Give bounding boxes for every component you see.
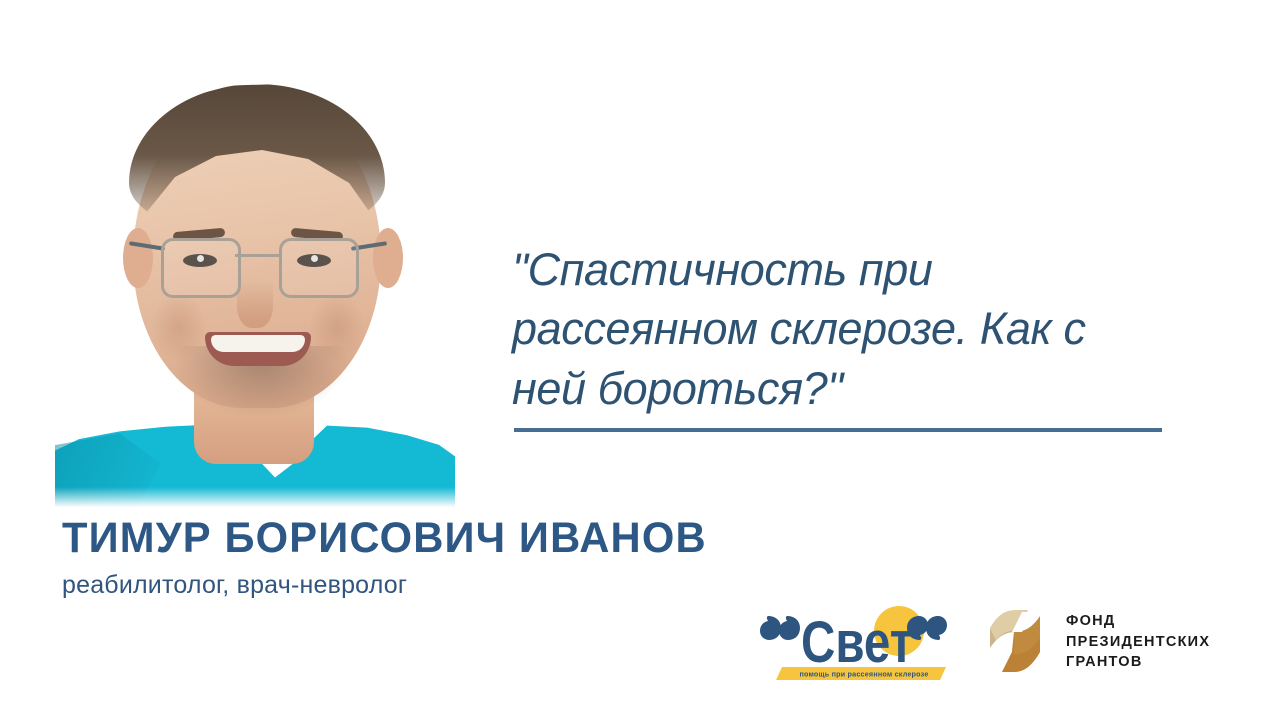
speaker-role: реабилитолог, врач-невролог: [62, 572, 882, 600]
svet-logo-svg: Свет помощь при рассеянном склерозе: [760, 600, 958, 686]
ear-left: [123, 228, 153, 288]
grants-mark-icon: [988, 606, 1052, 678]
speaker-name-block: ТИМУР БОРИСОВИЧ ИВАНОВ реабилитолог, вра…: [62, 516, 882, 600]
portrait-illustration: [55, 78, 455, 513]
presidential-grants-logo: ФОНД ПРЕЗИДЕНТСКИХ ГРАНТОВ: [988, 600, 1218, 684]
portrait-bottom-fade: [55, 487, 455, 513]
teeth: [211, 335, 305, 352]
svet-tagline: помощь при рассеянном склерозе: [799, 670, 928, 679]
svet-wordmark: Свет: [801, 610, 913, 675]
ear-right: [373, 228, 403, 288]
glasses-lens-right: [279, 238, 359, 298]
smiling-mouth: [205, 332, 311, 366]
glasses-lens-left: [161, 238, 241, 298]
svet-open-quote-icon: [760, 616, 800, 640]
nose: [237, 274, 273, 328]
svet-close-quote-icon: [907, 616, 947, 640]
quote-text: "Спастичность при рассеянном склерозе. К…: [512, 240, 1172, 418]
grants-line-2: ПРЕЗИДЕНТСКИХ: [1066, 632, 1210, 653]
quote-block: "Спастичность при рассеянном склерозе. К…: [512, 240, 1172, 418]
quote-divider-rule: [514, 428, 1162, 432]
grants-line-3: ГРАНТОВ: [1066, 652, 1210, 673]
speaker-name: ТИМУР БОРИСОВИЧ ИВАНОВ: [62, 516, 857, 561]
grants-wordmark: ФОНД ПРЕЗИДЕНТСКИХ ГРАНТОВ: [1066, 611, 1210, 673]
svet-logo: Свет помощь при рассеянном склерозе: [760, 600, 958, 686]
glasses-bridge: [235, 254, 279, 257]
grants-line-1: ФОНД: [1066, 611, 1210, 632]
speaker-portrait: [55, 78, 455, 513]
slide-canvas: "Спастичность при рассеянном склерозе. К…: [0, 0, 1280, 720]
